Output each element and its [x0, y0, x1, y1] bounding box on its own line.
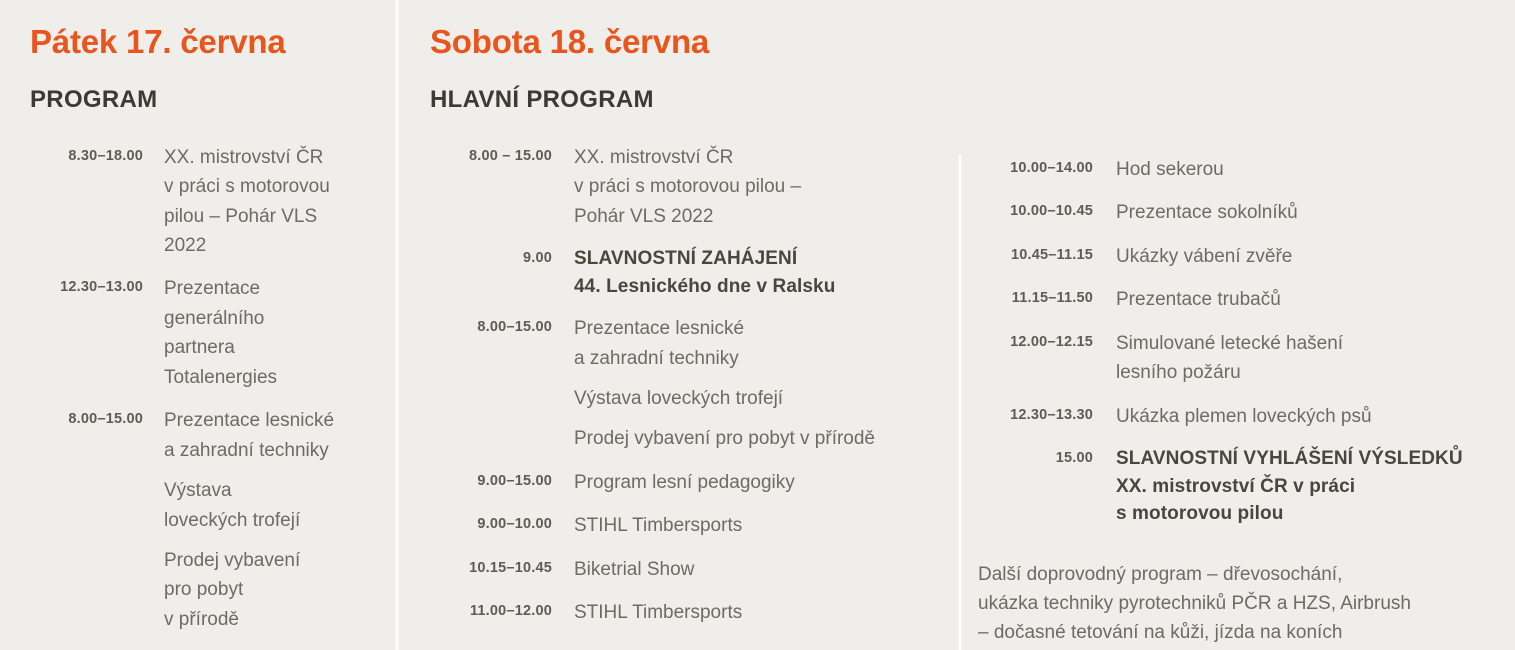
schedule-description: Simulované letecké hašenílesního požáru — [1093, 329, 1501, 388]
column-friday: Pátek 17. června PROGRAM 8.30–18.00XX. m… — [0, 0, 396, 648]
schedule-row: 8.00–15.00Prezentace lesnickéa zahradní … — [430, 314, 945, 454]
schedule-time: 8.00–15.00 — [430, 314, 552, 338]
note-continued: Další doprovodný program – dřevosochání,… — [978, 542, 1501, 647]
schedule-paragraph: STIHL Timbersports — [574, 511, 945, 540]
schedule-time: 12.00–12.15 — [978, 329, 1093, 353]
schedule-time: 15.00 — [978, 445, 1093, 469]
schedule-paragraph: Prezentace lesnickéa zahradní techniky — [164, 406, 378, 465]
column-saturday: Sobota 18. června HLAVNÍ PROGRAM 8.00 – … — [396, 0, 959, 642]
schedule-time: 9.00–10.00 — [430, 511, 552, 535]
schedule-paragraph: STIHL Timbersports — [574, 598, 945, 627]
schedule-description: Prezentace lesnickéa zahradní technikyVý… — [143, 406, 378, 634]
schedule-description: Ukázky vábení zvěře — [1093, 242, 1501, 271]
schedule-list-friday: 8.30–18.00XX. mistrovství ČRv práci s mo… — [30, 114, 378, 635]
schedule-time: 10.15–10.45 — [430, 555, 552, 579]
schedule-description: STIHL Timbersports — [552, 511, 945, 540]
day-title-saturday: Sobota 18. června — [430, 0, 945, 60]
schedule-time: 10.45–11.15 — [978, 242, 1093, 266]
schedule-row: 10.45–11.15Ukázky vábení zvěře — [978, 242, 1501, 271]
schedule-paragraph: Prezentace trubačů — [1116, 285, 1501, 314]
schedule-paragraph: Prezentace lesnickéa zahradní techniky — [574, 314, 945, 373]
schedule-description: STIHL Timbersports — [552, 598, 945, 627]
schedule-description: Prezentace lesnickéa zahradní technikyVý… — [552, 314, 945, 454]
schedule-row: 11.00–12.00STIHL Timbersports — [430, 598, 945, 627]
schedule-row: 12.00–12.15Simulované letecké hašenílesn… — [978, 329, 1501, 388]
schedule-paragraph: Prodej vybavení pro pobyt v přírodě — [574, 424, 945, 453]
schedule-time: 10.00–10.45 — [978, 198, 1093, 222]
schedule-description: SLAVNOSTNÍ VYHLÁŠENÍ VÝSLEDKŮXX. mistrov… — [1093, 445, 1501, 528]
schedule-time: 8.30–18.00 — [30, 143, 143, 167]
schedule-row: 9.00–15.00Program lesní pedagogiky — [430, 468, 945, 497]
program-poster: Pátek 17. června PROGRAM 8.30–18.00XX. m… — [0, 0, 1515, 650]
schedule-row: 12.30–13.30Ukázka plemen loveckých psů — [978, 402, 1501, 431]
schedule-time: 10.00–14.00 — [978, 155, 1093, 179]
schedule-row: 10.00–14.00Hod sekerou — [978, 155, 1501, 184]
schedule-paragraph: Simulované letecké hašenílesního požáru — [1116, 329, 1501, 388]
schedule-description: XX. mistrovství ČRv práci s motorovou pi… — [552, 143, 945, 231]
schedule-paragraph: Program lesní pedagogiky — [574, 468, 945, 497]
schedule-description: Prezentace sokolníků — [1093, 198, 1501, 227]
schedule-row: 15.00SLAVNOSTNÍ VYHLÁŠENÍ VÝSLEDKŮXX. mi… — [978, 445, 1501, 528]
schedule-time: 11.00–12.00 — [430, 598, 552, 622]
schedule-description: XX. mistrovství ČRv práci s motorovoupil… — [143, 143, 378, 261]
schedule-paragraph: Ukázka plemen loveckých psů — [1116, 402, 1501, 431]
schedule-paragraph: Výstava loveckých trofejí — [574, 384, 945, 413]
schedule-paragraph: SLAVNOSTNÍ ZAHÁJENÍ44. Lesnického dne v … — [574, 245, 945, 300]
schedule-paragraph: Hod sekerou — [1116, 155, 1501, 184]
schedule-paragraph: Ukázky vábení zvěře — [1116, 242, 1501, 271]
schedule-paragraph: XX. mistrovství ČRv práci s motorovou pi… — [574, 143, 945, 231]
schedule-row: 9.00SLAVNOSTNÍ ZAHÁJENÍ44. Lesnického dn… — [430, 245, 945, 300]
schedule-row: 10.00–10.45Prezentace sokolníků — [978, 198, 1501, 227]
schedule-row: 8.30–18.00XX. mistrovství ČRv práci s mo… — [30, 143, 378, 261]
schedule-description: Program lesní pedagogiky — [552, 468, 945, 497]
schedule-paragraph: Výstavaloveckých trofejí — [164, 476, 378, 535]
schedule-time: 8.00 – 15.00 — [430, 143, 552, 167]
schedule-list-continued: 10.00–14.00Hod sekerou10.00–10.45Prezent… — [978, 0, 1501, 528]
schedule-time: 12.30–13.00 — [30, 274, 143, 298]
schedule-list-saturday: 8.00 – 15.00XX. mistrovství ČRv práci s … — [430, 114, 945, 628]
schedule-row: 8.00–15.00Prezentace lesnickéa zahradní … — [30, 406, 378, 634]
schedule-time: 8.00–15.00 — [30, 406, 143, 430]
schedule-row: 9.00–10.00STIHL Timbersports — [430, 511, 945, 540]
schedule-description: SLAVNOSTNÍ ZAHÁJENÍ44. Lesnického dne v … — [552, 245, 945, 300]
schedule-description: Biketrial Show — [552, 555, 945, 584]
schedule-paragraph: XX. mistrovství ČRv práci s motorovoupil… — [164, 143, 378, 261]
schedule-description: Prezentace trubačů — [1093, 285, 1501, 314]
section-title-friday: PROGRAM — [30, 60, 378, 113]
day-title-friday: Pátek 17. června — [30, 0, 378, 60]
schedule-time: 9.00 — [430, 245, 552, 269]
schedule-time: 9.00–15.00 — [430, 468, 552, 492]
schedule-paragraph: PrezentacegenerálníhopartneraTotalenergi… — [164, 274, 378, 392]
schedule-paragraph: Prodej vybavenípro pobytv přírodě — [164, 546, 378, 634]
schedule-time: 11.15–11.50 — [978, 285, 1093, 309]
schedule-row: 8.00 – 15.00XX. mistrovství ČRv práci s … — [430, 143, 945, 231]
section-title-saturday: HLAVNÍ PROGRAM — [430, 60, 945, 113]
schedule-paragraph: SLAVNOSTNÍ VYHLÁŠENÍ VÝSLEDKŮXX. mistrov… — [1116, 445, 1501, 528]
schedule-paragraph: Biketrial Show — [574, 555, 945, 584]
schedule-time: 12.30–13.30 — [978, 402, 1093, 426]
schedule-row: 12.30–13.00Prezentacegenerálníhopartnera… — [30, 274, 378, 392]
schedule-description: Ukázka plemen loveckých psů — [1093, 402, 1501, 431]
schedule-paragraph: Prezentace sokolníků — [1116, 198, 1501, 227]
schedule-row: 11.15–11.50Prezentace trubačů — [978, 285, 1501, 314]
schedule-description: Hod sekerou — [1093, 155, 1501, 184]
schedule-description: PrezentacegenerálníhopartneraTotalenergi… — [143, 274, 378, 392]
schedule-row: 10.15–10.45Biketrial Show — [430, 555, 945, 584]
column-saturday-continued: 10.00–14.00Hod sekerou10.00–10.45Prezent… — [959, 0, 1515, 647]
